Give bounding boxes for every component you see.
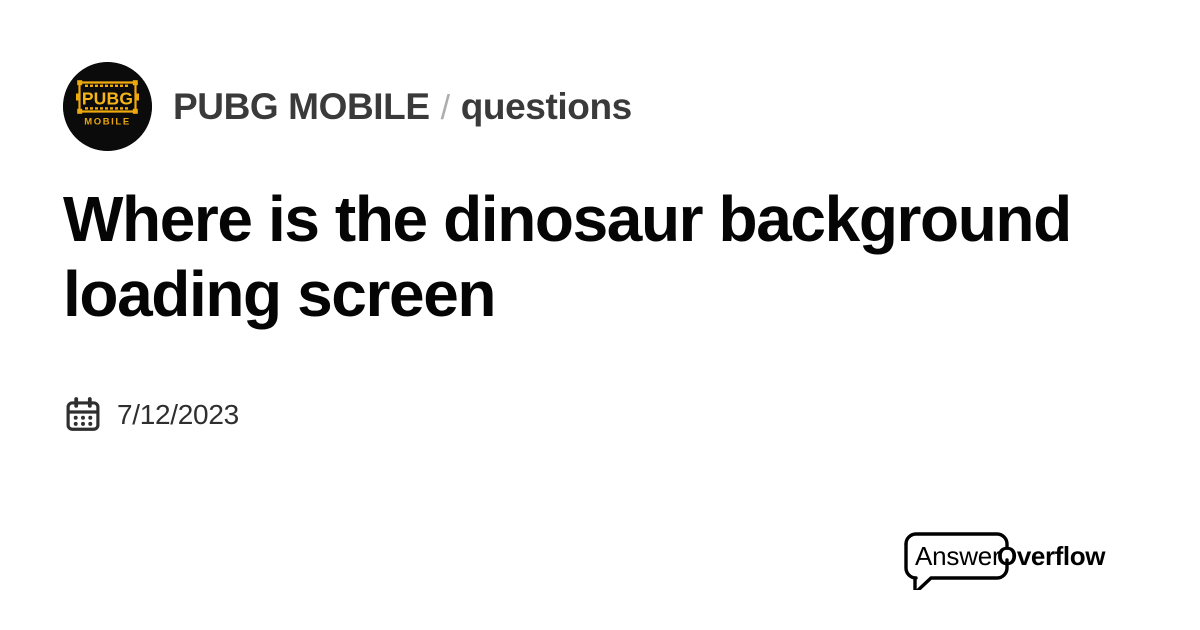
post-date: 7/12/2023 (64, 396, 239, 434)
date-label: 7/12/2023 (117, 401, 239, 429)
breadcrumb-separator: / (441, 89, 450, 128)
answer-overflow-logo-icon: Answer Overflow (890, 522, 1115, 590)
server-avatar[interactable]: PUBG MOBILE (63, 62, 152, 151)
calendar-icon (64, 396, 102, 434)
breadcrumb-server-name[interactable]: PUBG MOBILE (173, 86, 430, 128)
breadcrumb: PUBG MOBILE / questions (173, 86, 632, 128)
breadcrumb-header: PUBG MOBILE PUBG MOBILE / questions (63, 62, 632, 151)
og-card: PUBG MOBILE PUBG MOBILE / questions Wher… (0, 0, 1200, 630)
mobile-wordmark: MOBILE (84, 117, 131, 128)
answer-overflow-watermark[interactable]: Answer Overflow (890, 522, 1115, 590)
breadcrumb-channel-name[interactable]: questions (461, 86, 632, 128)
watermark-answer-text: Answer (915, 541, 1001, 571)
watermark-overflow-text: Overflow (997, 541, 1106, 571)
page-title: Where is the dinosaur background loading… (63, 182, 1103, 332)
pubg-wordmark: PUBG (82, 89, 133, 109)
pubg-mobile-logo-icon: PUBG MOBILE (63, 62, 152, 151)
